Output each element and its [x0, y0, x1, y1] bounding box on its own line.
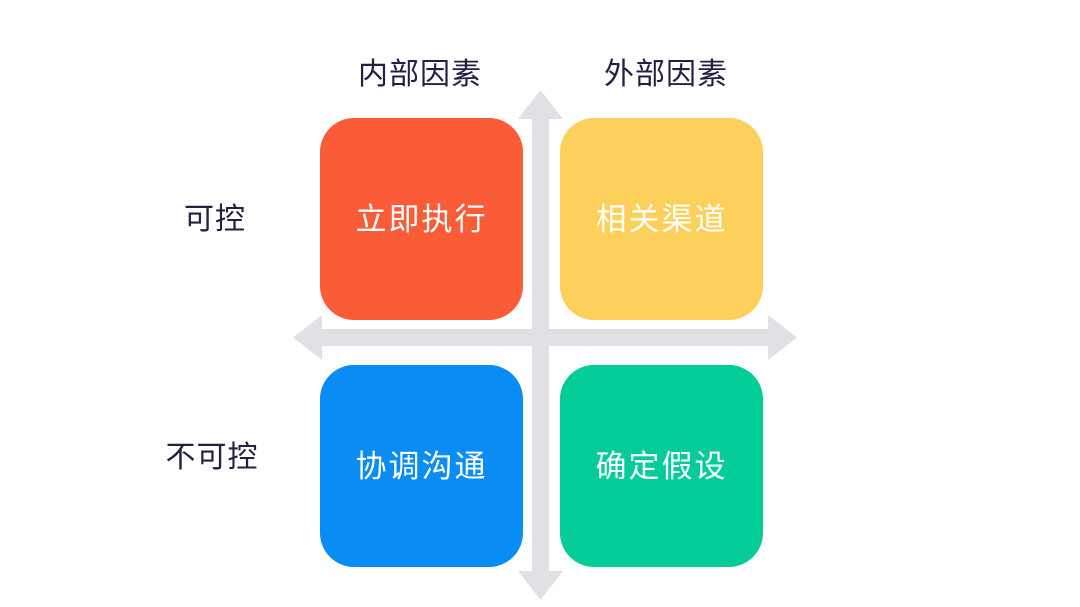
vertical-axis-shaft — [532, 113, 549, 577]
column-header-internal: 内部因素 — [358, 60, 482, 90]
quadrant-top-right-label: 相关渠道 — [596, 204, 728, 235]
quadrant-top-right[interactable]: 相关渠道 — [560, 118, 763, 320]
diagram-canvas: 内部因素 外部因素 可控 不可控 立即执行 相关渠道 协调沟通 确定假设 — [0, 0, 1080, 607]
vertical-arrow-head-top — [518, 90, 563, 119]
axis-arrows — [0, 0, 1080, 607]
horizontal-arrow-head-right — [768, 315, 797, 360]
horizontal-double-arrow — [293, 315, 797, 360]
quadrant-bottom-left-label: 协调沟通 — [356, 451, 488, 482]
horizontal-arrow-head-left — [293, 315, 322, 360]
quadrant-top-left-label: 立即执行 — [356, 204, 488, 235]
vertical-arrow-head-bottom — [518, 571, 563, 600]
column-header-external: 外部因素 — [604, 60, 728, 90]
quadrant-bottom-right[interactable]: 确定假设 — [560, 365, 763, 567]
row-header-controllable: 可控 — [184, 205, 246, 235]
quadrant-top-left[interactable]: 立即执行 — [320, 118, 523, 320]
horizontal-axis-shaft — [315, 329, 775, 346]
row-header-uncontrollable: 不可控 — [166, 443, 259, 473]
vertical-double-arrow — [518, 90, 563, 600]
quadrant-bottom-left[interactable]: 协调沟通 — [320, 365, 523, 567]
quadrant-bottom-right-label: 确定假设 — [596, 451, 728, 482]
